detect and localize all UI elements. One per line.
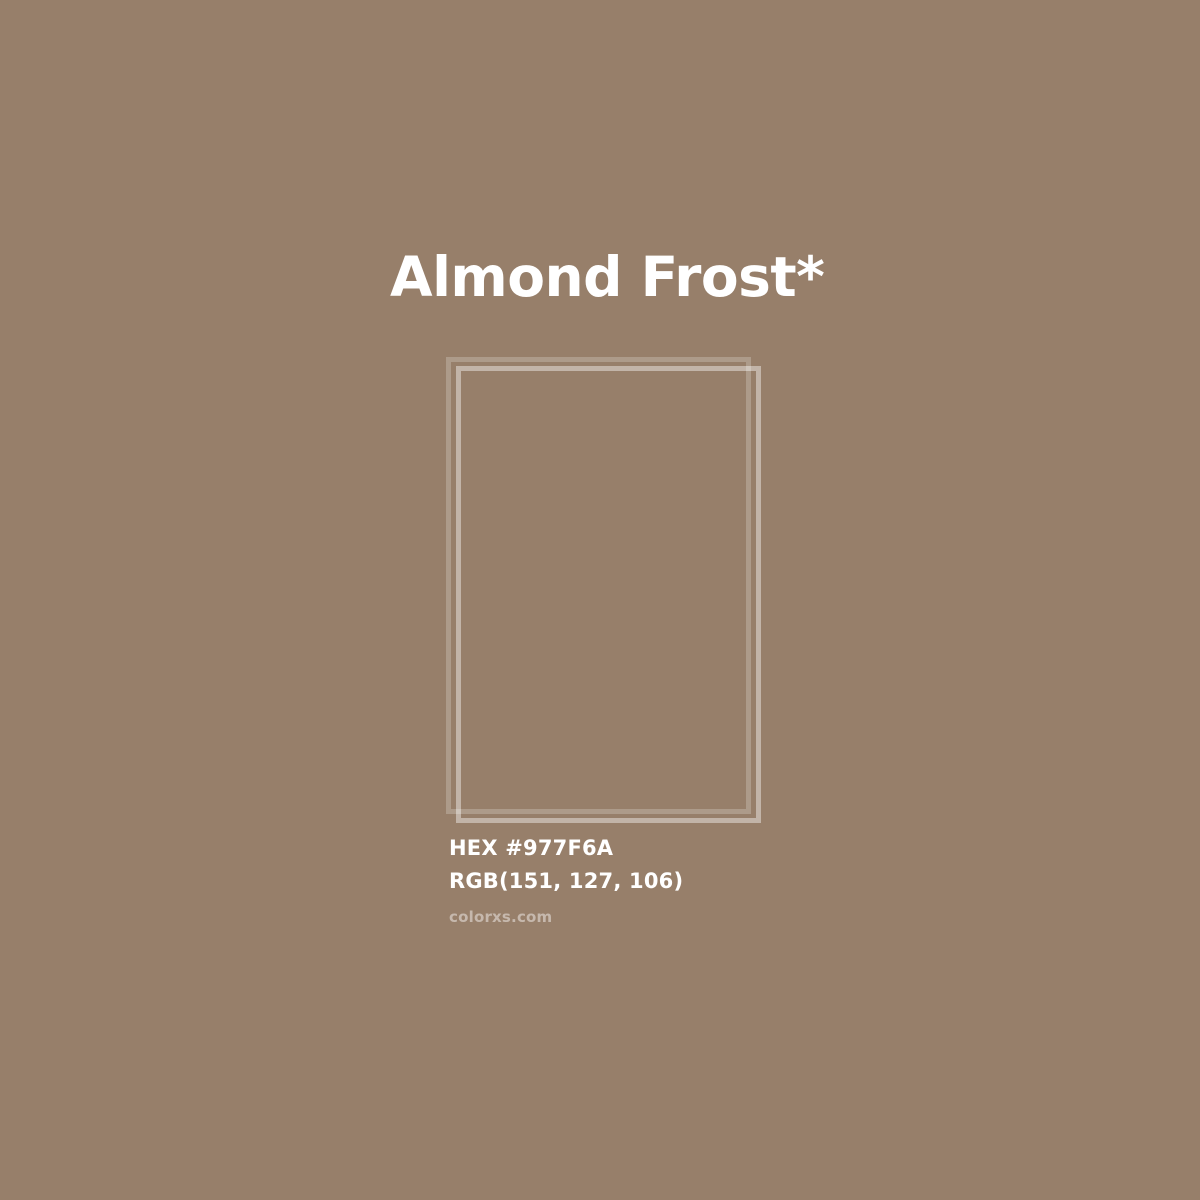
hex-value: HEX #977F6A [449, 832, 969, 865]
swatch-inner-frame [456, 366, 761, 823]
page-title: Almond Frost* [390, 244, 824, 310]
site-credit: colorxs.com [449, 898, 969, 927]
color-swatch [440, 350, 765, 825]
color-detail-page: Almond Frost* HEX #977F6A RGB(151, 127, … [0, 0, 1200, 1200]
rgb-value: RGB(151, 127, 106) [449, 865, 969, 898]
color-values: HEX #977F6A RGB(151, 127, 106) colorxs.c… [449, 832, 969, 927]
